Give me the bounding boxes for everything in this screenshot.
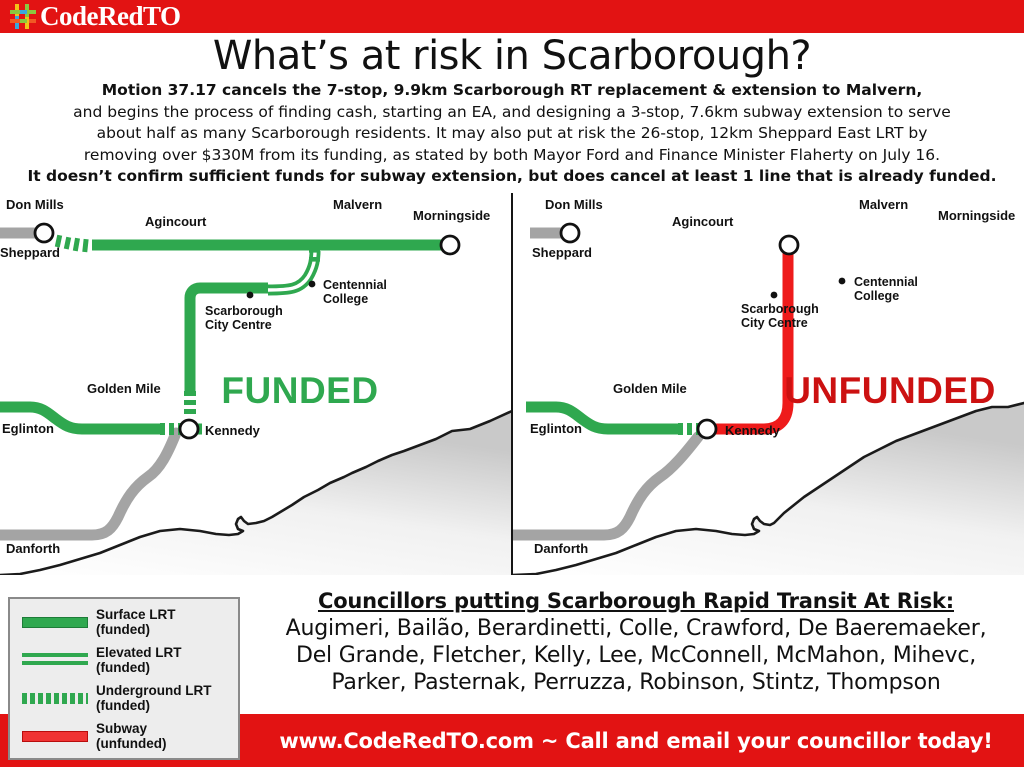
- map-label-centennial-college-line1: Centennial: [323, 278, 387, 292]
- legend-item-surface-lrt: Surface LRT (funded): [10, 603, 242, 641]
- map-label-sheppard: Sheppard: [532, 245, 592, 260]
- legend-note-elevated-lrt: (funded): [96, 660, 150, 675]
- legend-label-surface-lrt: Surface LRT (funded): [96, 607, 176, 638]
- map-label-danforth: Danforth: [6, 541, 60, 556]
- map-funded-svg: Don Mills Sheppard Agincourt Malvern Mor…: [0, 193, 512, 575]
- councillors-line-1: Augimeri, Bailão, Berardinetti, Colle, C…: [248, 615, 1024, 642]
- sheppard-east-lrt-line: [55, 235, 446, 253]
- page-title: What’s at risk in Scarborough?: [0, 33, 1024, 79]
- map-panel-divider: [511, 193, 513, 575]
- map-legend: Surface LRT (funded) Elevated LRT (funde…: [8, 597, 240, 760]
- map-panel-funded[interactable]: Don Mills Sheppard Agincourt Malvern Mor…: [0, 193, 512, 575]
- footer-call-to-action[interactable]: www.CodeRedTO.com ~ Call and email your …: [248, 714, 1024, 767]
- blurb-line-4: removing over $330M from its funding, as…: [22, 145, 1002, 167]
- legend-item-subway: Subway (unfunded): [10, 717, 242, 755]
- scarborough-subway-extension-line: [712, 251, 788, 429]
- map-label-centennial-college-line2: College: [854, 289, 899, 303]
- bloor-danforth-grey-line: [0, 433, 176, 535]
- legend-item-underground-lrt: Underground LRT (funded): [10, 679, 242, 717]
- map-unfunded-svg: Don Mills Sheppard Agincourt Malvern Mor…: [512, 193, 1024, 575]
- map-label-agincourt: Agincourt: [145, 214, 207, 229]
- map-label-malvern: Malvern: [333, 197, 382, 212]
- top-red-banner: CodeRedTO: [0, 0, 1024, 33]
- stop-dot-centennial-college: [309, 281, 316, 288]
- legend-label-underground-lrt: Underground LRT (funded): [96, 683, 211, 714]
- legend-note-surface-lrt: (funded): [96, 622, 150, 637]
- legend-title-surface-lrt: Surface LRT: [96, 607, 176, 622]
- elevated-lrt-casing: [268, 251, 315, 290]
- map-label-don-mills: Don Mills: [6, 197, 64, 212]
- map-label-centennial-college-line2: College: [323, 292, 368, 306]
- map-label-morningside: Morningside: [413, 208, 490, 223]
- blurb-line-3: about half as many Scarborough residents…: [22, 123, 1002, 145]
- map-label-agincourt: Agincourt: [672, 214, 734, 229]
- hashtag-icon: [10, 4, 36, 29]
- blurb-line-5: It doesn’t confirm sufficient funds for …: [22, 166, 1002, 188]
- legend-note-subway: (unfunded): [96, 736, 166, 751]
- station-sheppard-mccowan: [780, 236, 798, 254]
- map-label-golden-mile: Golden Mile: [613, 381, 687, 396]
- map-label-eglinton: Eglinton: [2, 421, 54, 436]
- map-label-morningside: Morningside: [938, 208, 1015, 223]
- legend-title-subway: Subway: [96, 721, 147, 736]
- map-label-sheppard: Sheppard: [0, 245, 60, 260]
- summary-paragraph: Motion 37.17 cancels the 7-stop, 9.9km S…: [22, 80, 1002, 188]
- map-label-don-mills: Don Mills: [545, 197, 603, 212]
- councillors-line-3: Parker, Pasternak, Perruzza, Robinson, S…: [248, 669, 1024, 696]
- station-kennedy: [698, 420, 716, 438]
- station-don-mills-sheppard: [35, 224, 53, 242]
- station-morningside-malvern: [441, 236, 459, 254]
- brand-name: CodeRedTO: [40, 2, 181, 31]
- surface-lrt-swatch: [22, 614, 88, 630]
- bloor-danforth-grey-line: [512, 437, 698, 535]
- legend-title-elevated-lrt: Elevated LRT: [96, 645, 182, 660]
- map-panel-unfunded[interactable]: Don Mills Sheppard Agincourt Malvern Mor…: [512, 193, 1024, 575]
- councillors-heading: Councillors putting Scarborough Rapid Tr…: [248, 588, 1024, 614]
- verdict-label-unfunded: UNFUNDED: [784, 370, 996, 411]
- brand-logo[interactable]: CodeRedTO: [10, 2, 181, 31]
- stop-dot-scarborough-city-centre: [771, 292, 778, 299]
- blurb-line-2: and begins the process of finding cash, …: [22, 102, 1002, 124]
- map-label-golden-mile: Golden Mile: [87, 381, 161, 396]
- map-label-danforth: Danforth: [534, 541, 588, 556]
- map-comparison: Don Mills Sheppard Agincourt Malvern Mor…: [0, 193, 1024, 575]
- station-don-mills-sheppard: [561, 224, 579, 242]
- legend-label-subway: Subway (unfunded): [96, 721, 166, 752]
- map-label-scarborough-centre-line2: City Centre: [205, 318, 272, 332]
- map-label-scarborough-centre-line1: Scarborough: [205, 304, 283, 318]
- elevated-lrt-swatch: [22, 652, 88, 668]
- verdict-label-funded: FUNDED: [221, 370, 378, 411]
- councillors-line-2: Del Grande, Fletcher, Kelly, Lee, McConn…: [248, 642, 1024, 669]
- map-label-scarborough-centre-line1: Scarborough: [741, 302, 819, 316]
- underground-lrt-swatch: [22, 690, 88, 706]
- stop-dot-scarborough-city-centre: [247, 292, 254, 299]
- councillors-names: Augimeri, Bailão, Berardinetti, Colle, C…: [248, 615, 1024, 696]
- subway-swatch: [22, 728, 88, 744]
- map-label-eglinton: Eglinton: [530, 421, 582, 436]
- map-label-malvern: Malvern: [859, 197, 908, 212]
- blurb-line-1: Motion 37.17 cancels the 7-stop, 9.9km S…: [22, 80, 1002, 102]
- legend-title-underground-lrt: Underground LRT: [96, 683, 211, 698]
- legend-item-elevated-lrt: Elevated LRT (funded): [10, 641, 242, 679]
- map-label-kennedy: Kennedy: [725, 423, 781, 438]
- legend-label-elevated-lrt: Elevated LRT (funded): [96, 645, 182, 676]
- map-label-kennedy: Kennedy: [205, 423, 261, 438]
- map-label-centennial-college-line1: Centennial: [854, 275, 918, 289]
- legend-note-underground-lrt: (funded): [96, 698, 150, 713]
- station-kennedy: [180, 420, 198, 438]
- stop-dot-centennial-college: [839, 278, 846, 285]
- map-label-scarborough-centre-line2: City Centre: [741, 316, 808, 330]
- underground-lrt-segment-kennedy-north: [184, 391, 196, 414]
- councillors-section: Councillors putting Scarborough Rapid Tr…: [248, 588, 1024, 696]
- poster-root: CodeRedTO What’s at risk in Scarborough?…: [0, 0, 1024, 767]
